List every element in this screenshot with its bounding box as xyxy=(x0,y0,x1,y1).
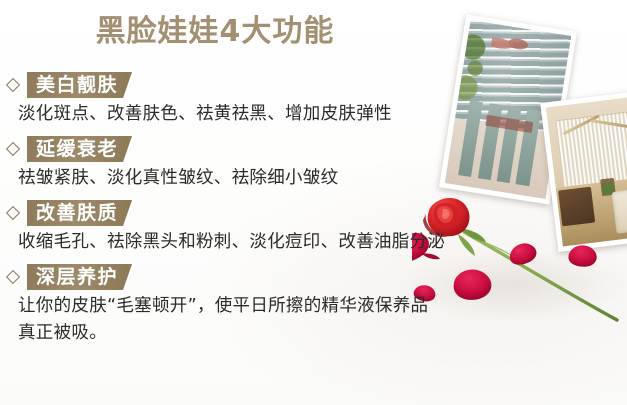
feature-description-line: 祛皱紧肤、淡化真性皱纹、祛除细小皱纹 xyxy=(18,168,338,188)
diamond-outline-icon xyxy=(6,78,21,93)
feature-description: 祛皱紧肤、淡化真性皱纹、祛除细小皱纹 xyxy=(0,165,470,192)
feature-tag-label: 深层养护 xyxy=(27,264,132,290)
feature-item-anti-aging: 延缓衰老 祛皱紧肤、淡化真性皱纹、祛除细小皱纹 xyxy=(0,136,470,192)
clinic-treatment-room-photo xyxy=(540,90,627,252)
feature-description-line: 让你的皮肤“毛塞顿开”，使平日所擦的精华液保养品 xyxy=(18,296,428,316)
room-dark-furniture xyxy=(558,187,595,227)
feature-list: 美白靓肤 淡化斑点、改善肤色、祛黄祛黑、增加皮肤弹性 延缓衰老 祛皱紧肤、淡化真… xyxy=(0,72,470,355)
feature-description-line: 真正被吸。 xyxy=(18,320,470,347)
diamond-outline-icon xyxy=(6,270,21,285)
feature-tag-label: 延缓衰老 xyxy=(27,136,132,162)
feature-description: 收缩毛孔、祛除黑头和粉刺、淡化痘印、改善油脂分泌 xyxy=(0,229,470,256)
feature-item-whitening: 美白靓肤 淡化斑点、改善肤色、祛黄祛黑、增加皮肤弹性 xyxy=(0,72,470,128)
lamp-arm xyxy=(590,119,627,128)
feature-item-deep-care: 深层养护 让你的皮肤“毛塞顿开”，使平日所擦的精华液保养品 真正被吸。 xyxy=(0,264,470,347)
poster-canvas: 黑脸娃娃4大功能 美白靓肤 淡化斑点、改善肤色、祛黄祛黑、增加皮肤弹性 延缓衰老… xyxy=(0,0,627,405)
feature-item-skin-texture: 改善肤质 收缩毛孔、祛除黑头和粉刺、淡化痘印、改善油脂分泌 xyxy=(0,200,470,256)
feature-tag-label: 美白靓肤 xyxy=(27,72,132,98)
feature-header: 改善肤质 xyxy=(0,200,470,226)
feature-header: 深层养护 xyxy=(0,264,470,290)
diamond-outline-icon xyxy=(6,206,21,221)
feature-description-line: 收缩毛孔、祛除黑头和粉刺、淡化痘印、改善油脂分泌 xyxy=(18,232,445,252)
feature-description: 让你的皮肤“毛塞顿开”，使平日所擦的精华液保养品 真正被吸。 xyxy=(0,293,470,347)
lamp-arm xyxy=(562,115,599,136)
page-title: 黑脸娃娃4大功能 xyxy=(0,6,430,50)
photo-inner xyxy=(546,96,627,247)
diamond-outline-icon xyxy=(6,142,21,157)
treatment-lamp-icon xyxy=(561,109,627,159)
feature-tag-label: 改善肤质 xyxy=(27,200,132,226)
room-artwork xyxy=(546,96,627,247)
feature-header: 美白靓肤 xyxy=(0,72,470,98)
feature-description-line: 淡化斑点、改善肤色、祛黄祛黑、增加皮肤弹性 xyxy=(18,104,392,124)
feature-header: 延缓衰老 xyxy=(0,136,470,162)
feature-description: 淡化斑点、改善肤色、祛黄祛黑、增加皮肤弹性 xyxy=(0,101,470,128)
